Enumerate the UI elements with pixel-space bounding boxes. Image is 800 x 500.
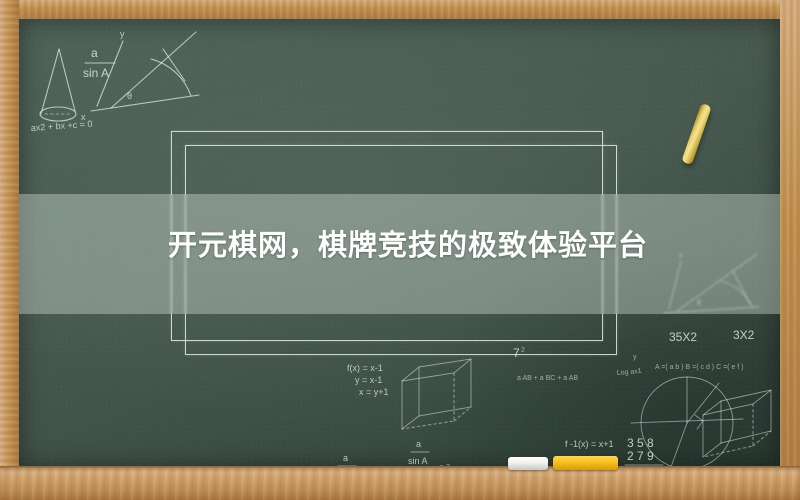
circle-diagram <box>631 377 743 468</box>
svg-text:y: y <box>120 29 125 39</box>
addition-column: 3 5 8 2 7 9 6 3 7 <box>625 436 663 468</box>
quadratic-formula: ax2 + bx +c = 0 <box>30 119 92 133</box>
svg-text:a: a <box>343 453 348 463</box>
svg-text:θ: θ <box>127 91 132 101</box>
frame-left-rail <box>0 0 19 500</box>
cone-icon <box>40 49 76 121</box>
svg-text:f(x) = x-1: f(x) = x-1 <box>347 363 383 373</box>
frame-top-rail <box>0 0 800 19</box>
page-title: 开元棋网，棋牌竞技的极致体验平台 <box>168 226 748 266</box>
chalkboard-surface: a sin A y x θ ax2 + bx +c = 0 <box>19 19 780 468</box>
svg-text:2 7 9: 2 7 9 <box>627 449 654 463</box>
ab-bc-text: a AB + a BC + a AB <box>517 375 578 382</box>
svg-text:y = x-1: y = x-1 <box>355 375 382 385</box>
matrix-row-text: A =( a b ) B =( c d ) C =( e f ) <box>655 364 744 371</box>
svg-text:sin A: sin A <box>408 456 428 466</box>
wireframe-cube-icon-2 <box>703 390 771 457</box>
axis-y-label-right: y <box>633 354 637 361</box>
xy-axes-angle-diagram: y x θ <box>81 29 199 122</box>
log-ax-text: Log ax1 <box>617 368 643 377</box>
wireframe-cube-icon <box>402 359 471 429</box>
white-chalk-stick-in-tray <box>508 457 548 470</box>
svg-text:x = y+1: x = y+1 <box>359 387 389 397</box>
svg-text:a: a <box>416 439 421 449</box>
frame-right-rail <box>780 0 800 500</box>
svg-text:sin A: sin A <box>83 66 109 80</box>
law-of-sines-formula: a sin A <box>83 46 115 80</box>
mult-3x2-text: 3X2 <box>733 328 755 342</box>
mult-35x2-text: 35X2 <box>669 330 697 344</box>
svg-text:x: x <box>81 112 86 122</box>
yellow-chalk-stick-in-tray <box>553 456 618 470</box>
function-equations: f(x) = x-1 y = x-1 x = y+1 <box>347 363 389 397</box>
law-of-sines-formula-2: a sin A <box>408 439 429 466</box>
chalk-tray <box>0 468 800 500</box>
svg-text:3 5 8: 3 5 8 <box>627 436 654 450</box>
blackboard-scene: a sin A y x θ ax2 + bx +c = 0 <box>0 0 800 500</box>
svg-text:a: a <box>91 46 98 60</box>
inverse-function-formula: f -1(x) = x+1 <box>565 439 614 449</box>
yellow-chalk-stick-on-board <box>681 103 712 165</box>
